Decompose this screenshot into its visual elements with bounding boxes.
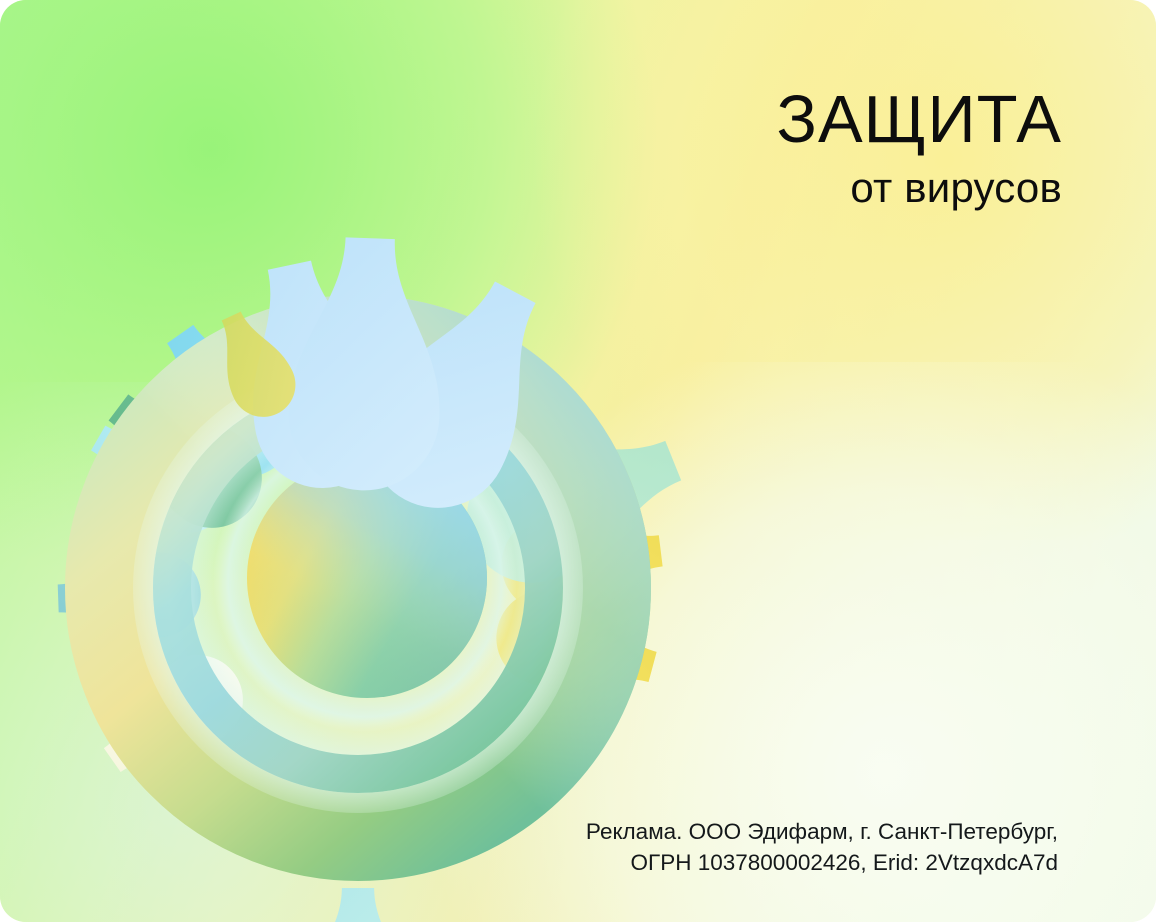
headline-block: ЗАЩИТА от вирусов — [776, 86, 1062, 213]
advertisement-banner[interactable]: ЗАЩИТА от вирусов Реклама. ООО Эдифарм, … — [0, 0, 1156, 922]
page-title: ЗАЩИТА — [776, 86, 1062, 153]
spike-top — [309, 888, 408, 922]
page-subtitle: от вирусов — [776, 163, 1062, 213]
legal-line-2: ОГРН 1037800002426, Erid: 2VtzqxdcA7d — [586, 847, 1058, 878]
legal-disclosure: Реклама. ООО Эдифарм, г. Санкт-Петербург… — [586, 816, 1058, 878]
legal-line-1: Реклама. ООО Эдифарм, г. Санкт-Петербург… — [586, 816, 1058, 847]
